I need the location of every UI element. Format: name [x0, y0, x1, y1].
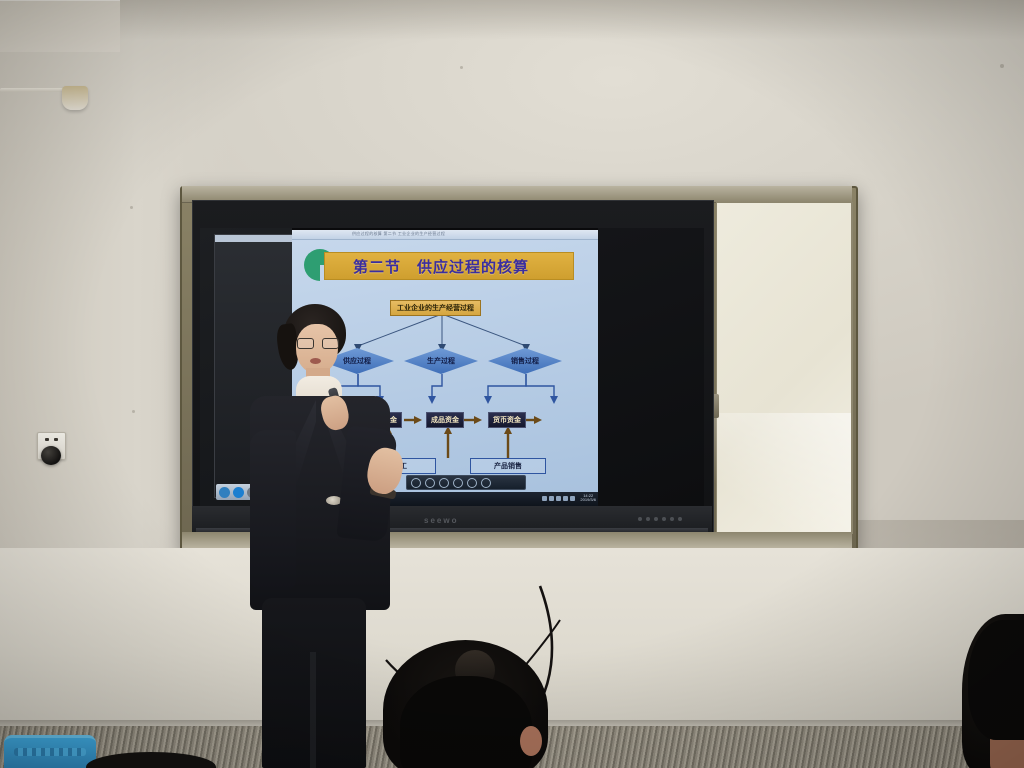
- classroom-scene: 供应过程的核算 第二节 工业企业的生产经营过程 第二节 供应过程的核算: [0, 0, 1024, 768]
- photo-vignette: [0, 0, 1024, 768]
